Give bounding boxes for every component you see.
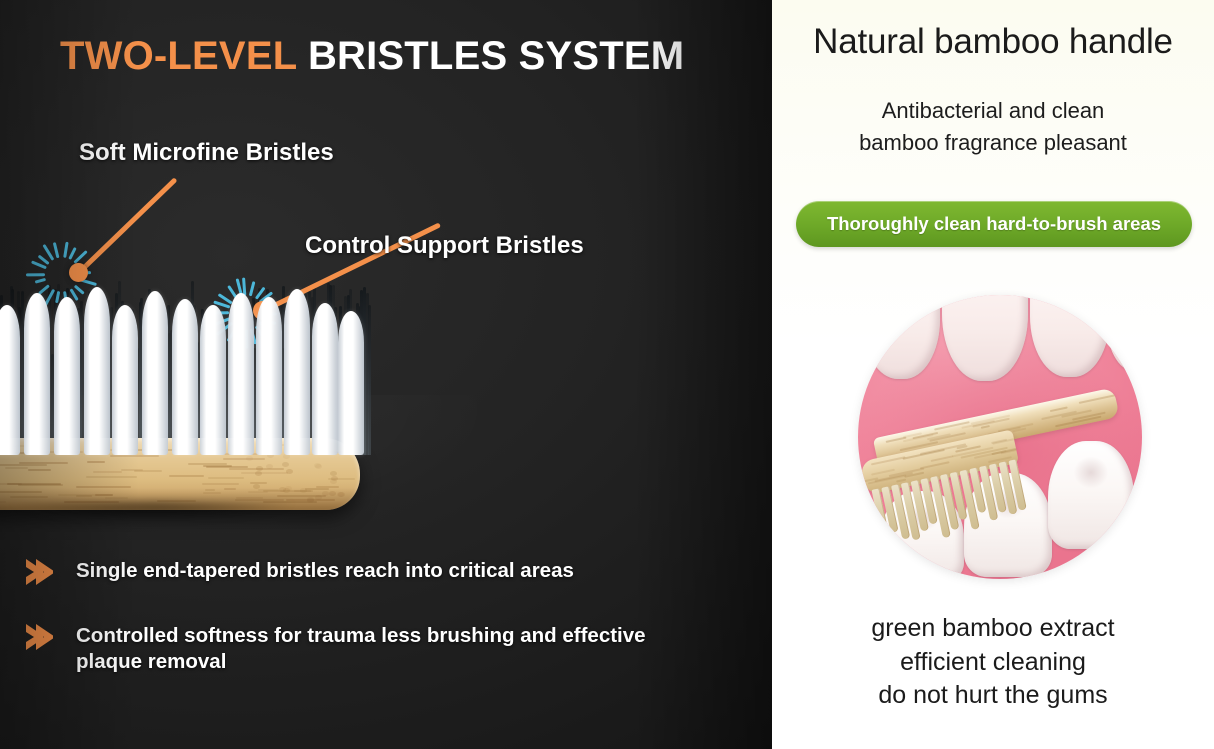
- feature-list: Single end-tapered bristles reach into c…: [22, 558, 748, 709]
- bristle-tuft: [24, 293, 50, 455]
- bristle-field: [0, 250, 372, 455]
- brushing-teeth-illustration: [858, 295, 1142, 579]
- highlight-badge-label: Thoroughly clean hard-to-brush areas: [827, 213, 1161, 235]
- footer-line-3: do not hurt the gums: [772, 679, 1214, 713]
- bristle-tuft: [112, 305, 138, 455]
- callout-label-control-bristles: Control Support Bristles: [305, 232, 584, 260]
- bristle-tuft: [142, 291, 168, 455]
- bristle-tuft: [200, 305, 226, 455]
- brush-shadow: [0, 502, 372, 528]
- page-title: TWO-LEVEL BRISTLES SYSTEM: [60, 34, 750, 79]
- bristle-tuft: [172, 299, 198, 455]
- bristle-tuft: [256, 297, 282, 455]
- bristle-tuft: [54, 297, 80, 455]
- bristle-tuft: [284, 289, 310, 455]
- list-item-label: Single end-tapered bristles reach into c…: [76, 558, 574, 584]
- list-item-label: Controlled softness for trauma less brus…: [76, 623, 688, 675]
- chevron-right-icon: [22, 620, 56, 654]
- chevron-right-icon: [22, 555, 56, 589]
- bristle-tuft: [84, 287, 110, 455]
- callout-dot-soft-bristles: [69, 263, 88, 282]
- right-panel: Natural bamboo handle Antibacterial and …: [772, 0, 1214, 749]
- subtitle-line-1: Antibacterial and clean: [772, 95, 1214, 127]
- footer-line-1: green bamboo extract: [772, 612, 1214, 646]
- right-panel-title: Natural bamboo handle: [772, 22, 1214, 62]
- bristle-tuft: [312, 303, 338, 455]
- bristle-tuft: [338, 311, 364, 455]
- right-panel-subtitle: Antibacterial and clean bamboo fragrance…: [772, 95, 1214, 159]
- right-panel-footer: green bamboo extract efficient cleaning …: [772, 612, 1214, 713]
- left-panel: TWO-LEVEL BRISTLES SYSTEM Soft Microfine…: [0, 0, 772, 749]
- footer-line-2: efficient cleaning: [772, 646, 1214, 680]
- product-infographic: TWO-LEVEL BRISTLES SYSTEM Soft Microfine…: [0, 0, 1214, 749]
- title-highlight: TWO-LEVEL: [60, 34, 297, 78]
- subtitle-line-2: bamboo fragrance pleasant: [772, 127, 1214, 159]
- callout-label-soft-bristles: Soft Microfine Bristles: [79, 139, 334, 167]
- bristle-tuft: [0, 305, 20, 455]
- list-item: Single end-tapered bristles reach into c…: [22, 558, 748, 589]
- bristle-tuft: [228, 293, 254, 455]
- title-rest: BRISTLES SYSTEM: [308, 34, 684, 78]
- list-item: Controlled softness for trauma less brus…: [22, 623, 748, 675]
- highlight-badge: Thoroughly clean hard-to-brush areas: [796, 201, 1192, 247]
